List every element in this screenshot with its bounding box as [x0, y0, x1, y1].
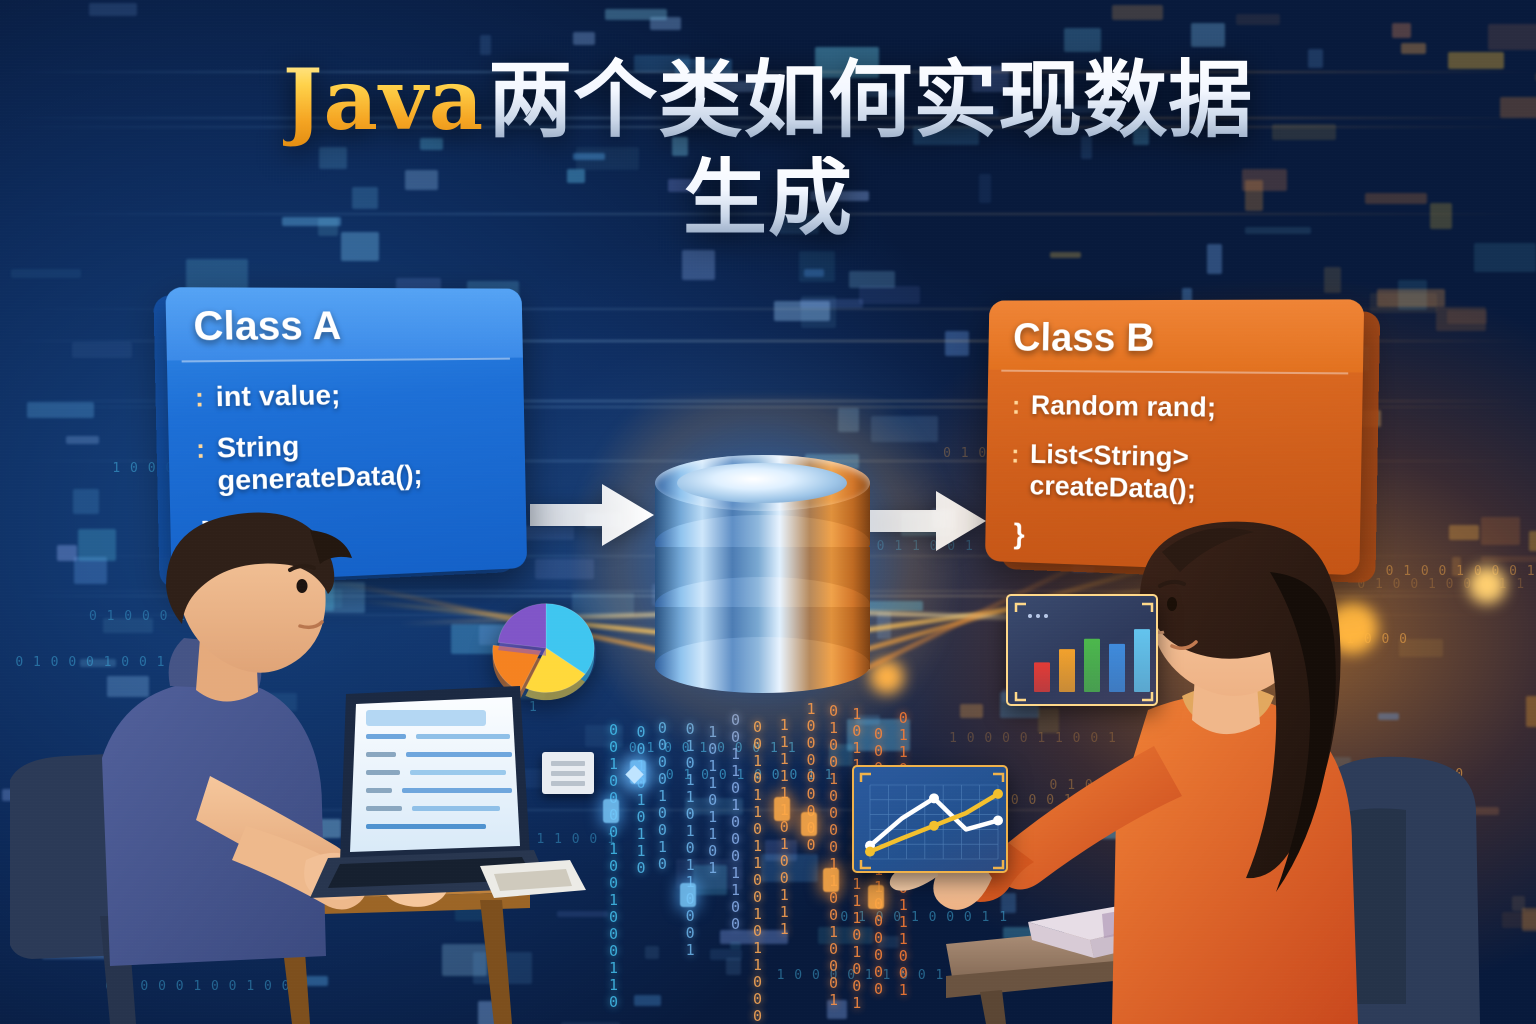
class-a-member-row: : int value; — [195, 377, 500, 413]
bg-data-block — [1401, 43, 1426, 54]
class-a-member-row: : String generateData(); — [196, 426, 502, 498]
bg-data-block — [1207, 244, 1223, 275]
title-java-word: Java — [283, 50, 488, 149]
line-chart — [854, 767, 1008, 873]
bg-data-block — [1191, 23, 1225, 47]
bg-data-block — [818, 927, 873, 943]
poster-canvas: 0 1 0 0 1 0 0 0 1 11 0 0 0 0 1 1 0 0 10 … — [0, 0, 1536, 1024]
bullet-icon: : — [195, 387, 202, 408]
class-b-member-1: List<String> createData(); — [1029, 438, 1334, 509]
falling-binary-column: 0 0 1 0 1 1 0 1 1 0 0 1 0 1 1 0 0 0 — [753, 719, 763, 1024]
bg-data-block — [1447, 310, 1488, 324]
class-b-member-row: : List<String> createData(); — [1010, 438, 1334, 510]
bar-chart-panel[interactable] — [1006, 594, 1158, 706]
class-b-title: Class B — [988, 299, 1364, 372]
bg-data-block — [726, 958, 741, 975]
bg-data-block — [186, 259, 248, 289]
page-title: Java两个类如何实现数据 生成 — [0, 58, 1536, 240]
bg-data-block — [1488, 24, 1536, 51]
class-b-member-0: Random rand; — [1031, 389, 1217, 423]
bg-data-block — [11, 269, 81, 278]
bg-data-block — [682, 250, 715, 281]
bg-data-block — [1474, 243, 1535, 272]
bg-data-block — [27, 402, 94, 418]
bg-data-block — [1050, 252, 1081, 258]
bg-data-block — [730, 942, 741, 949]
bg-data-block — [72, 342, 131, 358]
class-b-member-row: : Random rand; — [1012, 389, 1336, 425]
bg-data-block — [66, 436, 99, 444]
data-cube — [774, 797, 790, 821]
bg-data-block — [849, 271, 895, 288]
bg-data-block — [1236, 14, 1280, 25]
developer-man-at-laptop — [10, 508, 690, 1024]
bg-data-block — [89, 3, 137, 16]
bg-data-block — [804, 269, 824, 278]
bullet-icon: : — [1011, 444, 1017, 464]
bg-data-block — [605, 9, 667, 20]
title-line-1: Java两个类如何实现数据 — [0, 58, 1536, 142]
bg-data-block — [1112, 5, 1163, 21]
bar-chart — [1008, 596, 1158, 706]
bg-data-block — [859, 286, 920, 304]
title-line-2: 生成 — [0, 156, 1536, 240]
bg-data-block — [1064, 28, 1101, 52]
bg-data-block — [573, 32, 595, 46]
data-cube — [801, 812, 817, 836]
bg-data-block — [1324, 267, 1341, 293]
class-a-member-1: String generateData(); — [216, 426, 501, 497]
bullet-icon: : — [1012, 395, 1018, 415]
title-chinese-part: 两个类如何实现数据 — [488, 53, 1253, 147]
class-a-title: Class A — [165, 287, 523, 360]
bg-data-block — [945, 331, 969, 356]
data-cube — [823, 868, 839, 892]
bullet-icon: : — [196, 438, 203, 459]
class-a-member-0: int value; — [215, 379, 340, 413]
bg-data-block — [1377, 289, 1445, 306]
line-chart-panel[interactable] — [852, 765, 1008, 873]
bg-data-block — [1392, 23, 1412, 39]
